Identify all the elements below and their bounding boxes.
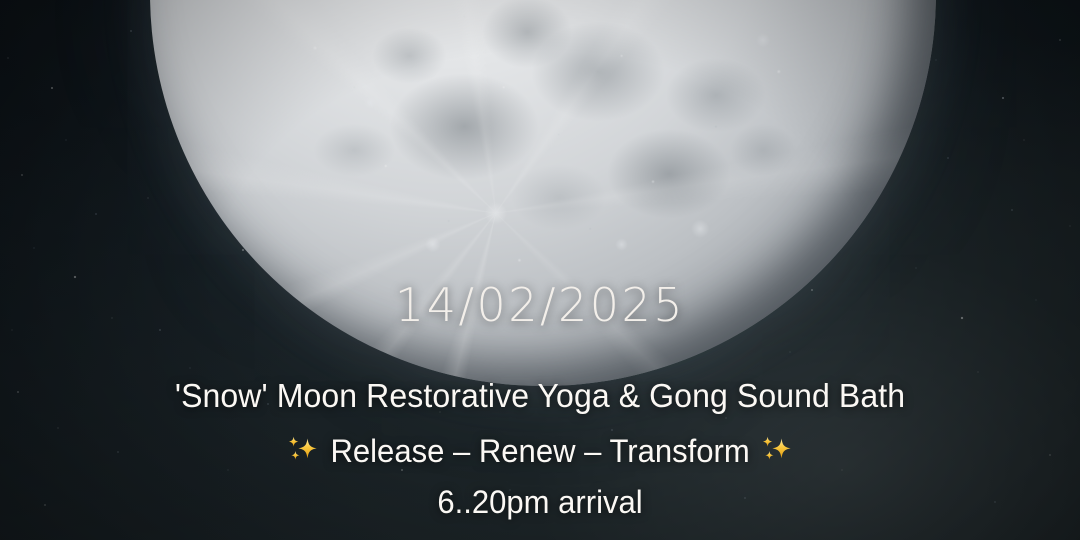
event-title: 'Snow' Moon Restorative Yoga & Gong Soun… <box>16 378 1064 414</box>
event-tagline: Release – Renew – Transform <box>0 432 1080 469</box>
sparkles-icon <box>286 432 320 466</box>
sparkles-icon <box>760 432 794 466</box>
tagline-text: Release – Renew – Transform <box>330 434 749 469</box>
moon-event-poster: 14/02/2025 'Snow' Moon Restorative Yoga … <box>0 0 1080 540</box>
event-date: 14/02/2025 <box>0 282 1080 328</box>
event-arrival-time: 6..20pm arrival <box>16 485 1064 520</box>
